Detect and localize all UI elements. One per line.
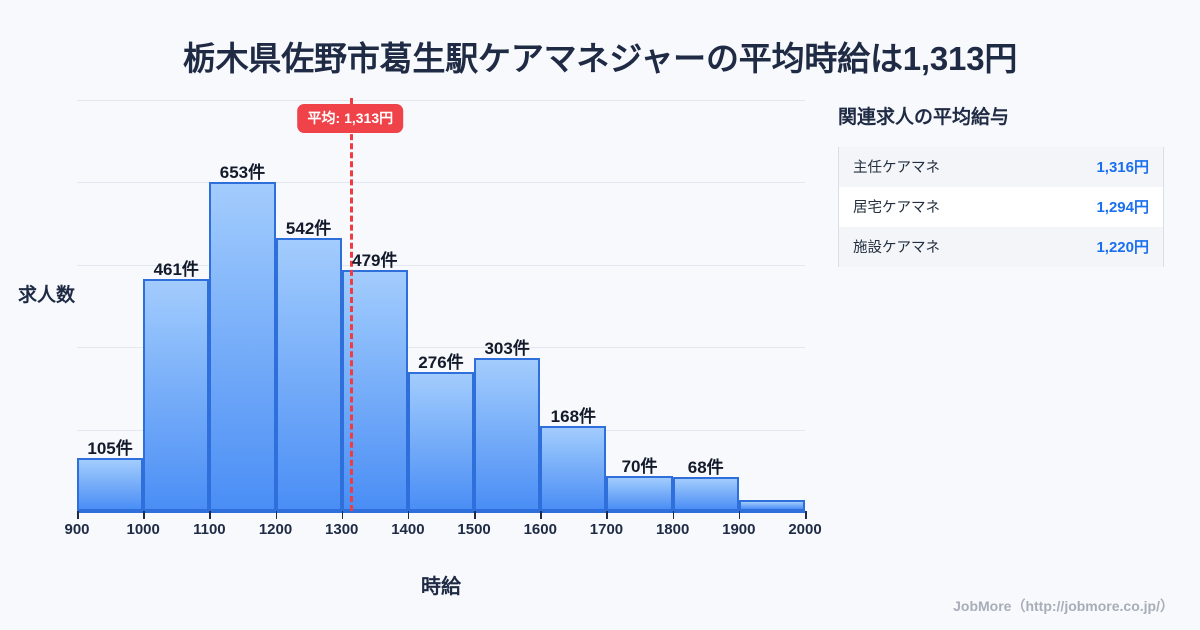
x-tickmark-1000 xyxy=(143,511,145,519)
x-tick-label-1300: 1300 xyxy=(325,521,358,538)
x-tickmark-1700 xyxy=(606,511,608,519)
bar-label-900-1000: 105件 xyxy=(77,434,143,459)
role-name: 施設ケアマネ xyxy=(839,227,1030,267)
role-salary: 1,220円 xyxy=(1029,227,1163,267)
bar-label-1200-1300: 542件 xyxy=(276,214,342,239)
x-tick-label-1700: 1700 xyxy=(590,521,623,538)
gridline xyxy=(77,100,805,101)
footer-watermark: JobMore（http://jobmore.co.jp/） xyxy=(953,596,1174,616)
related-salary-title: 関連求人の平均給与 xyxy=(838,102,1168,129)
bar-1600-1700 xyxy=(540,426,606,511)
x-tickmark-1300 xyxy=(342,511,344,519)
related-salary-panel: 関連求人の平均給与 主任ケアマネ1,316円居宅ケアマネ1,294円施設ケアマネ… xyxy=(838,102,1168,267)
x-tickmark-1600 xyxy=(540,511,542,519)
table-row: 施設ケアマネ1,220円 xyxy=(839,227,1164,267)
x-tickmark-1800 xyxy=(673,511,675,519)
role-salary: 1,294円 xyxy=(1029,187,1163,227)
x-tick-label-1200: 1200 xyxy=(259,521,292,538)
table-row: 主任ケアマネ1,316円 xyxy=(839,147,1164,187)
x-tick-label-1400: 1400 xyxy=(391,521,424,538)
x-tick-label-1900: 1900 xyxy=(722,521,755,538)
x-tick-label-1800: 1800 xyxy=(656,521,689,538)
x-tickmark-900 xyxy=(77,511,79,519)
x-tickmark-1200 xyxy=(276,511,278,519)
page-title: 栃木県佐野市葛生駅ケアマネジャーの平均時給は1,313円 xyxy=(0,32,1200,80)
x-axis-baseline xyxy=(77,511,805,513)
bar-label-1300-1400: 479件 xyxy=(342,246,408,271)
bar-1500-1600 xyxy=(474,358,540,511)
table-row: 居宅ケアマネ1,294円 xyxy=(839,187,1164,227)
x-tick-label-900: 900 xyxy=(64,521,89,538)
bar-1400-1500 xyxy=(408,372,474,511)
average-badge: 平均: 1,313円 xyxy=(298,104,404,133)
y-axis-label: 求人数 xyxy=(18,280,75,307)
bar-1900-2000 xyxy=(739,500,805,511)
bar-1000-1100 xyxy=(143,279,209,511)
chart-plot-area xyxy=(77,98,805,511)
bar-900-1000 xyxy=(77,458,143,511)
x-axis-label: 時給 xyxy=(77,570,805,599)
bar-1200-1300 xyxy=(276,238,342,511)
x-tickmark-1900 xyxy=(739,511,741,519)
x-tick-label-1100: 1100 xyxy=(193,521,226,538)
bar-label-1500-1600: 303件 xyxy=(474,334,540,359)
x-tick-label-2000: 2000 xyxy=(788,521,821,538)
gridline xyxy=(77,182,805,183)
role-name: 主任ケアマネ xyxy=(839,147,1030,187)
role-salary: 1,316円 xyxy=(1029,147,1163,187)
x-tickmark-1400 xyxy=(408,511,410,519)
average-line xyxy=(350,98,353,511)
bar-label-1100-1200: 653件 xyxy=(209,158,275,183)
bar-label-1600-1700: 168件 xyxy=(540,402,606,427)
x-tickmark-1500 xyxy=(474,511,476,519)
x-tick-label-1600: 1600 xyxy=(524,521,557,538)
x-tick-label-1000: 1000 xyxy=(126,521,159,538)
bar-label-1800-1900: 68件 xyxy=(673,453,739,478)
role-name: 居宅ケアマネ xyxy=(839,187,1030,227)
bar-1700-1800 xyxy=(606,476,672,511)
x-tickmark-2000 xyxy=(805,511,807,519)
bar-label-1400-1500: 276件 xyxy=(408,348,474,373)
x-tick-label-1500: 1500 xyxy=(457,521,490,538)
related-salary-table: 主任ケアマネ1,316円居宅ケアマネ1,294円施設ケアマネ1,220円 xyxy=(838,147,1164,267)
bar-1800-1900 xyxy=(673,477,739,511)
x-tickmark-1100 xyxy=(209,511,211,519)
bar-1100-1200 xyxy=(209,182,275,511)
bar-label-1700-1800: 70件 xyxy=(606,452,672,477)
bar-label-1000-1100: 461件 xyxy=(143,255,209,280)
